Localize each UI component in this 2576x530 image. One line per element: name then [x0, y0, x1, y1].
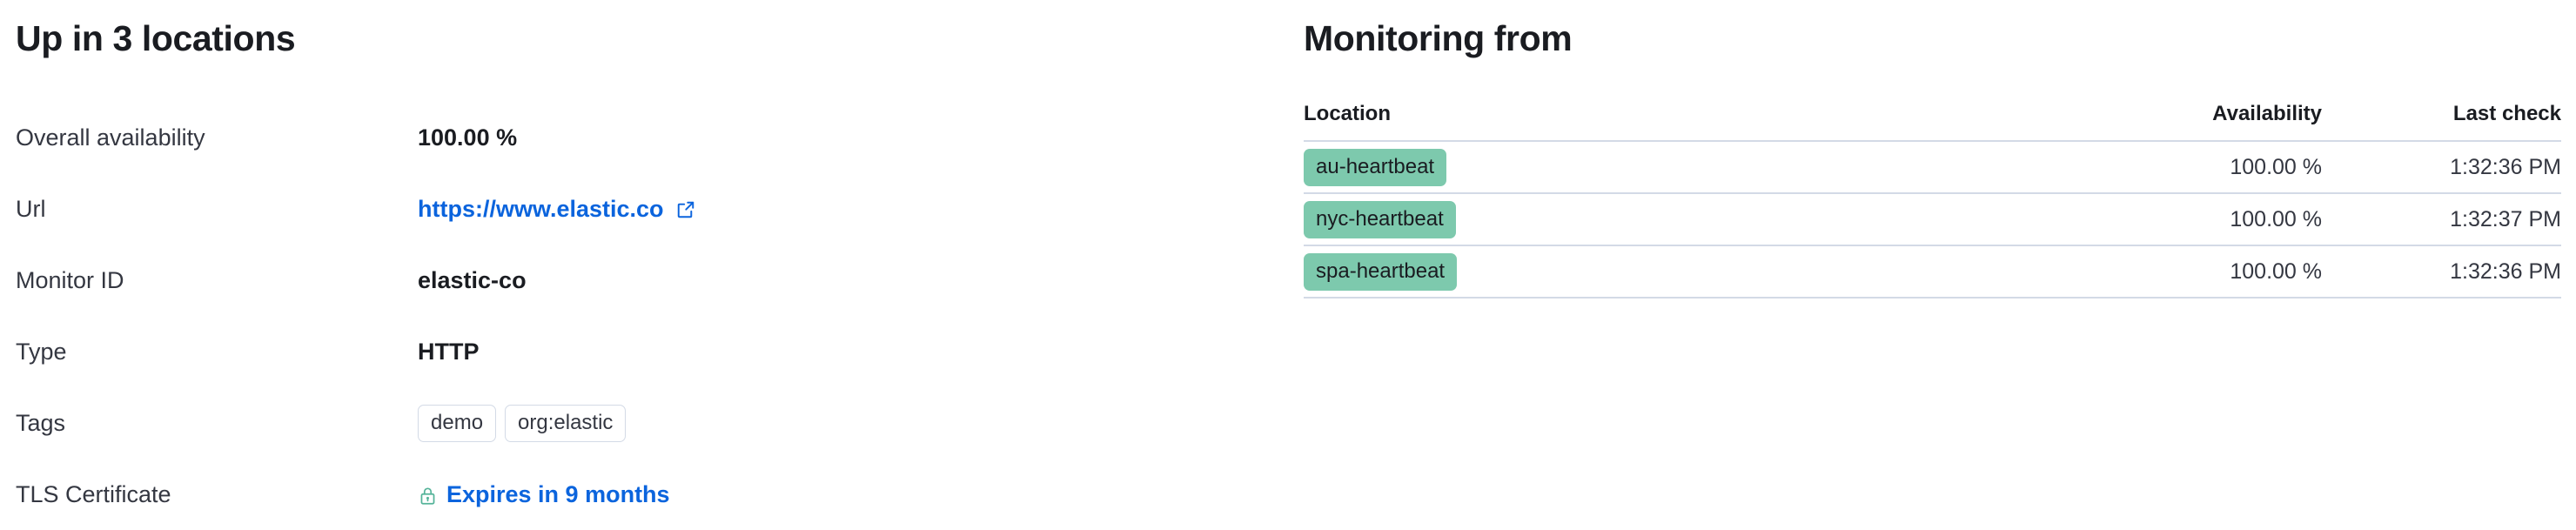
- monitoring-from-panel: Monitoring from Location Availability La…: [1304, 0, 2560, 519]
- lock-icon: [418, 486, 438, 506]
- detail-value-monitor-id: elastic-co: [418, 266, 527, 294]
- detail-label-tls-certificate: TLS Certificate: [16, 480, 418, 508]
- detail-label-overall-availability: Overall availability: [16, 124, 418, 151]
- url-link-text[interactable]: https://www.elastic.co: [418, 195, 664, 223]
- cell-availability: 100.00 %: [2052, 245, 2322, 298]
- monitoring-from-title: Monitoring from: [1304, 0, 2560, 58]
- detail-row-type: Type HTTP: [16, 316, 1281, 387]
- column-header-last-check[interactable]: Last check: [2322, 102, 2561, 141]
- page-title: Up in 3 locations: [16, 0, 1281, 58]
- cell-availability: 100.00 %: [2052, 193, 2322, 245]
- location-badge[interactable]: au-heartbeat: [1304, 149, 1446, 186]
- cell-last-check: 1:32:36 PM: [2322, 245, 2561, 298]
- table-row: nyc-heartbeat 100.00 % 1:32:37 PM: [1304, 193, 2561, 245]
- detail-row-url: Url https://www.elastic.co: [16, 173, 1281, 245]
- monitor-detail-page: Up in 3 locations Overall availability 1…: [0, 0, 2576, 519]
- detail-label-tags: Tags: [16, 409, 418, 437]
- detail-row-monitor-id: Monitor ID elastic-co: [16, 245, 1281, 316]
- cell-availability: 100.00 %: [2052, 141, 2322, 193]
- tag-badge[interactable]: demo: [418, 405, 496, 442]
- tls-expiry-text[interactable]: Expires in 9 months: [446, 480, 670, 508]
- detail-value-overall-availability: 100.00 %: [418, 124, 517, 151]
- detail-value-url[interactable]: https://www.elastic.co: [418, 195, 696, 223]
- column-header-availability[interactable]: Availability: [2052, 102, 2322, 141]
- location-badge[interactable]: spa-heartbeat: [1304, 253, 1457, 291]
- detail-row-overall-availability: Overall availability 100.00 %: [16, 102, 1281, 173]
- cell-last-check: 1:32:37 PM: [2322, 193, 2561, 245]
- external-link-icon: [675, 199, 696, 220]
- table-body: au-heartbeat 100.00 % 1:32:36 PM nyc-hea…: [1304, 141, 2561, 298]
- detail-label-url: Url: [16, 195, 418, 223]
- detail-value-tls-certificate[interactable]: Expires in 9 months: [418, 480, 670, 508]
- table-row: au-heartbeat 100.00 % 1:32:36 PM: [1304, 141, 2561, 193]
- tag-badge[interactable]: org:elastic: [505, 405, 626, 442]
- tag-list: demo org:elastic: [418, 405, 626, 442]
- column-header-location[interactable]: Location: [1304, 102, 2052, 141]
- detail-row-tags: Tags demo org:elastic: [16, 387, 1281, 459]
- detail-value-type: HTTP: [418, 338, 480, 366]
- detail-label-monitor-id: Monitor ID: [16, 266, 418, 294]
- table-header: Location Availability Last check: [1304, 102, 2561, 141]
- monitor-status-panel: Up in 3 locations Overall availability 1…: [0, 0, 1297, 519]
- location-badge[interactable]: nyc-heartbeat: [1304, 201, 1456, 238]
- table-row: spa-heartbeat 100.00 % 1:32:36 PM: [1304, 245, 2561, 298]
- detail-row-tls-certificate: TLS Certificate Expires in 9 months: [16, 459, 1281, 530]
- monitoring-locations-table: Location Availability Last check au-hear…: [1304, 102, 2561, 299]
- cell-last-check: 1:32:36 PM: [2322, 141, 2561, 193]
- table-header-row: Location Availability Last check: [1304, 102, 2561, 141]
- detail-label-type: Type: [16, 338, 418, 366]
- monitor-details-list: Overall availability 100.00 % Url https:…: [16, 102, 1281, 530]
